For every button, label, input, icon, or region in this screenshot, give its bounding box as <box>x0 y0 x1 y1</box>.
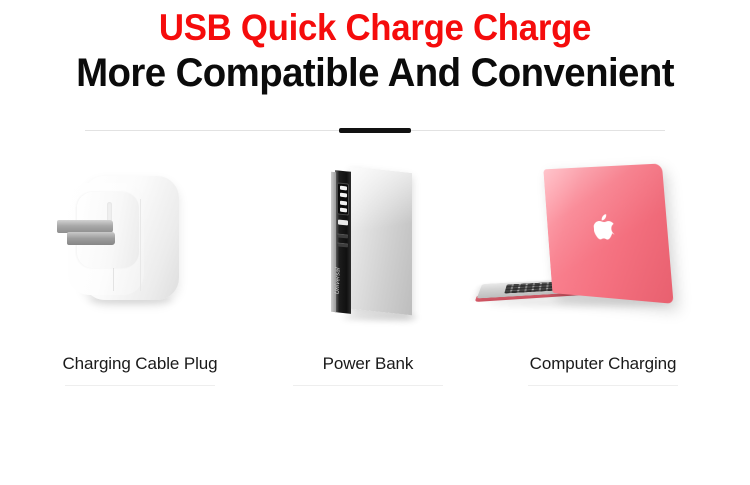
product-image-stage: Universal <box>280 162 456 350</box>
led-dot <box>340 186 347 191</box>
caption-underline <box>65 385 215 386</box>
section-divider <box>85 128 665 133</box>
product-item-computer-charging: Computer Charging <box>456 162 750 412</box>
product-row: Charging Cable Plug <box>0 162 750 412</box>
heading-block: USB Quick Charge Charge More Compatible … <box>0 6 750 96</box>
power-bank-drop-shadow <box>342 314 418 321</box>
caption-underline <box>293 385 443 386</box>
power-bank-brand-text: Universal <box>335 280 351 296</box>
laptop-lid <box>543 163 673 303</box>
power-bank-port-group <box>337 233 349 250</box>
product-image-stage <box>456 162 750 350</box>
power-bank-front-panel <box>350 167 412 316</box>
headline-secondary: More Compatible And Convenient <box>15 50 735 96</box>
apple-logo-icon <box>593 214 615 240</box>
pink-macbook-image <box>466 166 706 326</box>
usb-power-adapter-image <box>55 174 185 302</box>
power-bank-led-indicator <box>337 182 349 215</box>
divider-center-mark <box>339 128 411 133</box>
product-item-power-bank: Universal Power Bank <box>280 162 456 412</box>
product-item-charging-cable-plug: Charging Cable Plug <box>0 162 280 412</box>
caption-underline <box>528 385 678 386</box>
adapter-prong-lower <box>67 232 115 245</box>
power-bank-image: Universal <box>314 168 418 314</box>
led-dot <box>340 193 347 198</box>
led-dot <box>340 208 347 213</box>
usb-port <box>337 242 348 247</box>
product-caption-power-bank: Power Bank <box>280 354 456 374</box>
product-image-stage <box>0 162 280 350</box>
power-bank-highlight <box>350 167 412 316</box>
product-caption-computer-charging: Computer Charging <box>456 354 750 374</box>
usb-port <box>337 233 348 238</box>
promo-banner: USB Quick Charge Charge More Compatible … <box>0 0 750 485</box>
adapter-seam-line-secondary <box>140 199 141 291</box>
product-caption-charging-cable-plug: Charging Cable Plug <box>0 354 280 374</box>
power-bank-power-button <box>338 219 348 225</box>
led-dot <box>340 200 347 205</box>
headline-primary: USB Quick Charge Charge <box>23 6 728 50</box>
